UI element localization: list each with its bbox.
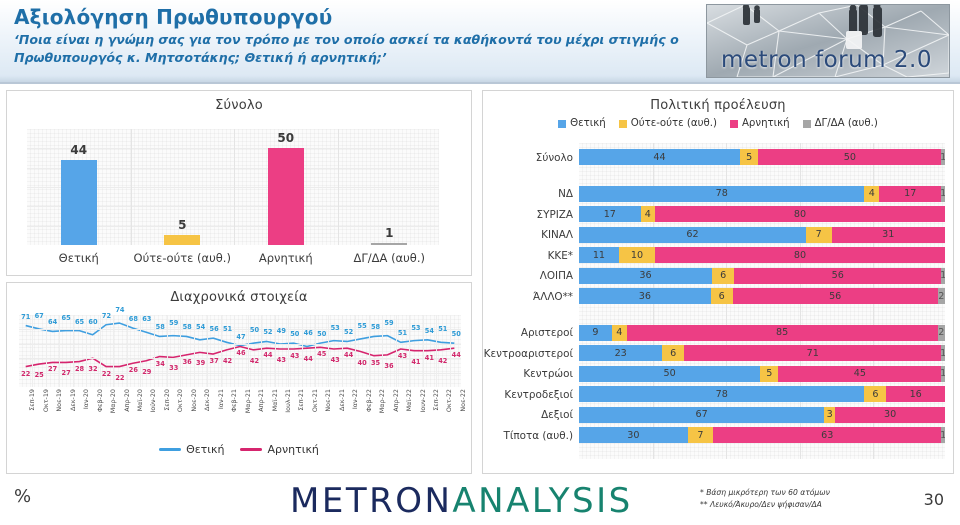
legend-swatch <box>558 120 566 128</box>
timeseries-value-label: 41 <box>425 354 434 362</box>
timeseries-x-label: Νοε-22 <box>459 389 467 412</box>
timeseries-value-label: 53 <box>411 324 420 332</box>
timeseries-x-label: Οκτ-21 <box>311 389 319 412</box>
timeseries-value-label: 43 <box>277 356 286 364</box>
timeseries-x-label: Μαρ-21 <box>244 389 252 413</box>
stacked-bar-row: 366562 <box>579 288 945 304</box>
timeseries-value-labels: 7167646565607274686358595854565147505249… <box>19 315 461 387</box>
column-category-label: Θετική <box>27 251 131 265</box>
stacked-bar-segment: 1 <box>941 345 945 361</box>
timeseries-x-label: Σεπ-20 <box>163 389 171 411</box>
timeseries-x-axis-labels: Σεπ-19Οκτ-19Νοε-19Δεκ-19Ιαν-20Φεβ-20Μαρ-… <box>19 389 461 437</box>
slide-header: Αξιολόγηση Πρωθυπουργού ‘Ποια είναι η γν… <box>0 0 960 84</box>
row-label-Δεξιοί: Δεξιοί <box>483 409 579 421</box>
timeseries-value-label: 32 <box>88 365 97 373</box>
timeseries-value-label: 60 <box>88 318 97 326</box>
stacked-bar-segment: 78 <box>579 186 864 202</box>
column-bar <box>61 160 97 245</box>
timeseries-value-label: 42 <box>438 357 447 365</box>
column-category-label: Αρνητική <box>234 251 338 265</box>
timeseries-x-label: Μαρ-20 <box>109 389 117 413</box>
timeseries-value-label: 28 <box>75 365 84 373</box>
stacked-bar-row: 236711 <box>579 345 945 361</box>
legend-item-Θετική[interactable]: Θετική <box>558 118 606 129</box>
timeseries-value-label: 50 <box>250 326 259 334</box>
column-bar <box>164 235 200 245</box>
timeseries-x-label: Οκτ-19 <box>42 389 50 412</box>
stacked-bar-segment: 5 <box>760 366 778 382</box>
political-origin-plot: 4455017841711748062731111080366561366562… <box>579 143 945 459</box>
timeseries-x-label: Μαρ-22 <box>378 389 386 413</box>
page-title: Αξιολόγηση Πρωθυπουργού <box>14 5 332 29</box>
stacked-bar-row: 307631 <box>579 427 945 443</box>
timeseries-value-label: 27 <box>48 365 57 373</box>
row-label-ΆΛΛΟ**: ΆΛΛΟ** <box>483 291 579 303</box>
timeseries-value-label: 44 <box>344 351 353 359</box>
stacked-bar-row: 366561 <box>579 268 945 284</box>
timeseries-value-label: 58 <box>156 323 165 331</box>
timeseries-x-label: Οκτ-22 <box>445 389 453 412</box>
timeseries-value-label: 44 <box>263 351 272 359</box>
stacked-bar-segment: 31 <box>832 227 945 243</box>
stacked-bar-row: 94852 <box>579 325 945 341</box>
timeseries-value-label: 65 <box>61 314 70 322</box>
timeseries-x-label: Απρ-21 <box>257 389 265 412</box>
footnote-1: * Βάση μικρότερη των 60 ατόμων <box>700 487 830 499</box>
legend-label: Αρνητική <box>742 118 790 129</box>
stacked-bar-segment: 56 <box>734 268 941 284</box>
timeseries-value-label: 65 <box>75 318 84 326</box>
stacked-bar-segment: 62 <box>579 227 806 243</box>
legend-label: ΔΓ/ΔΑ (αυθ.) <box>815 118 878 129</box>
stacked-bar-segment: 1 <box>941 427 945 443</box>
legend-label: Ούτε-ούτε (αυθ.) <box>631 118 717 129</box>
timeseries-value-label: 36 <box>384 362 393 370</box>
timeseries-x-label: Νοε-20 <box>190 389 198 412</box>
timeseries-x-label: Φεβ-20 <box>96 389 104 412</box>
legend-item-Θετική[interactable]: Θετική <box>159 443 224 456</box>
timeseries-value-label: 54 <box>196 323 205 331</box>
legend-swatch <box>619 120 627 128</box>
stacked-bar-row: 111080 <box>579 247 945 263</box>
slide-footer: % METRONANALYSIS * Βάση μικρότερη των 60… <box>0 478 960 525</box>
page-number: 30 <box>924 490 944 509</box>
legend-label: Αρνητική <box>267 443 318 456</box>
footnotes: * Βάση μικρότερη των 60 ατόμων ** Λευκό/… <box>700 487 830 511</box>
timeseries-value-label: 46 <box>236 349 245 357</box>
stacked-bar-segment: 56 <box>733 288 938 304</box>
political-origin-chart-panel: Πολιτική προέλευση ΘετικήΟύτε-ούτε (αυθ.… <box>482 90 954 474</box>
stacked-bar-segment: 85 <box>627 325 938 341</box>
timeseries-x-label: Μαϊ-21 <box>271 389 279 411</box>
stacked-bar-segment: 1 <box>941 149 945 165</box>
stacked-bar-segment: 4 <box>612 325 627 341</box>
percent-symbol: % <box>14 486 31 507</box>
stacked-bar-segment: 1 <box>941 186 945 202</box>
timeseries-value-label: 42 <box>223 357 232 365</box>
column-category-label: Ούτε-ούτε (αυθ.) <box>131 251 235 265</box>
timeseries-value-label: 51 <box>223 325 232 333</box>
timeseries-value-label: 59 <box>169 319 178 327</box>
row-label-Σύνολο: Σύνολο <box>483 152 579 164</box>
stacked-bar-row: 445501 <box>579 149 945 165</box>
stacked-bar-segment: 11 <box>579 247 619 263</box>
legend-item-Αρνητική[interactable]: Αρνητική <box>240 443 318 456</box>
timeseries-x-label: Σεπ-19 <box>28 389 36 411</box>
timeseries-value-label: 58 <box>371 323 380 331</box>
timeseries-x-label: Δεκ-20 <box>203 389 211 411</box>
timeseries-value-label: 51 <box>398 329 407 337</box>
timeseries-value-label: 43 <box>290 352 299 360</box>
timeseries-legend: ΘετικήΑρνητική <box>7 443 471 456</box>
row-label-ΚΚΕ*: ΚΚΕ* <box>483 250 579 262</box>
stacked-bar-segment: 7 <box>806 227 832 243</box>
timeseries-x-label: Ιαν-21 <box>217 389 225 409</box>
political-origin-legend: ΘετικήΟύτε-ούτε (αυθ.)ΑρνητικήΔΓ/ΔΑ (αυθ… <box>483 118 953 129</box>
page-subtitle: ‘Ποια είναι η γνώμη σας για τον τρόπο με… <box>14 31 704 68</box>
timeseries-value-label: 52 <box>344 328 353 336</box>
stacked-bar-segment: 44 <box>579 149 740 165</box>
timeseries-value-label: 43 <box>331 356 340 364</box>
stacked-bar-segment: 2 <box>938 288 945 304</box>
row-label-Κεντρώοι: Κεντρώοι <box>483 368 579 380</box>
timeseries-value-label: 45 <box>317 350 326 358</box>
column-value-label: 50 <box>277 131 294 145</box>
stacked-bar-segment: 36 <box>579 288 711 304</box>
timeseries-value-label: 37 <box>209 357 218 365</box>
timeseries-x-label: Δεκ-21 <box>338 389 346 411</box>
stacked-bar-segment: 7 <box>688 427 713 443</box>
timeseries-x-label: Ιούν-20 <box>149 389 157 413</box>
stacked-bar-segment: 67 <box>579 407 824 423</box>
timeseries-value-label: 35 <box>371 359 380 367</box>
timeseries-x-label: Ιουν-22 <box>419 389 427 413</box>
timeseries-plot: 7167646565607274686358595854565147505249… <box>19 315 461 387</box>
stacked-bar-segment: 30 <box>579 427 688 443</box>
stacked-bar-segment: 4 <box>864 186 879 202</box>
timeseries-x-label: Σεπ-22 <box>432 389 440 411</box>
timeseries-value-label: 47 <box>236 333 245 341</box>
timeseries-value-label: 36 <box>183 358 192 366</box>
column-value-label: 5 <box>178 218 186 232</box>
timeseries-value-label: 67 <box>35 312 44 320</box>
timeseries-value-label: 58 <box>183 323 192 331</box>
stacked-bar-segment: 6 <box>711 288 733 304</box>
stacked-bar-segment: 3 <box>824 407 835 423</box>
timeseries-value-label: 54 <box>425 327 434 335</box>
timeseries-value-label: 41 <box>411 358 420 366</box>
timeseries-value-label: 50 <box>290 330 299 338</box>
legend-line-swatch <box>159 448 181 451</box>
total-chart-title: Σύνολο <box>7 91 471 113</box>
timeseries-value-label: 46 <box>304 329 313 337</box>
stacked-bar-segment: 10 <box>619 247 655 263</box>
political-origin-title: Πολιτική προέλευση <box>483 91 953 113</box>
timeseries-value-label: 49 <box>277 327 286 335</box>
stacked-bar-segment: 9 <box>579 325 612 341</box>
row-label-Αριστεροί: Αριστεροί <box>483 327 579 339</box>
stacked-bar-segment: 78 <box>579 386 864 402</box>
timeseries-x-label: Σεπ-21 <box>297 389 305 411</box>
timeseries-chart-panel: Διαχρονικά στοιχεία 71676465656072746863… <box>6 282 472 474</box>
row-label-ΚΙΝΑΛ: ΚΙΝΑΛ <box>483 229 579 241</box>
stacked-bar-segment: 1 <box>941 366 945 382</box>
stacked-bar-row: 62731 <box>579 227 945 243</box>
stacked-bar-row: 505451 <box>579 366 945 382</box>
timeseries-value-label: 74 <box>115 306 124 314</box>
legend-label: Θετική <box>186 443 224 456</box>
stacked-bar-segment: 6 <box>864 386 886 402</box>
timeseries-value-label: 56 <box>209 325 218 333</box>
stacked-bar-segment: 5 <box>740 149 758 165</box>
timeseries-x-label: Μαϊ-22 <box>405 389 413 411</box>
brand-metron: METRON <box>290 481 452 521</box>
column-value-label: 1 <box>385 226 393 240</box>
row-label-Κεντροδεξιοί: Κεντροδεξιοί <box>483 389 579 401</box>
stacked-bar-segment: 45 <box>778 366 941 382</box>
stacked-bar-row: 67330 <box>579 407 945 423</box>
stacked-bar-segment: 17 <box>879 186 941 202</box>
stacked-bar-segment: 50 <box>579 366 760 382</box>
timeseries-value-label: 25 <box>35 371 44 379</box>
timeseries-x-label: Ιαν-20 <box>82 389 90 409</box>
timeseries-value-label: 22 <box>102 370 111 378</box>
timeseries-value-label: 53 <box>331 324 340 332</box>
timeseries-value-label: 27 <box>61 369 70 377</box>
stacked-bar-segment: 6 <box>712 268 734 284</box>
timeseries-value-label: 55 <box>357 322 366 330</box>
column-1: 5 <box>164 129 200 245</box>
column-bar <box>268 148 304 245</box>
timeseries-value-label: 29 <box>142 368 151 376</box>
legend-swatch <box>803 120 811 128</box>
stacked-bar-segment: 50 <box>758 149 941 165</box>
timeseries-value-label: 39 <box>196 359 205 367</box>
total-chart-plot: 445501 <box>27 129 439 245</box>
timeseries-value-label: 40 <box>357 359 366 367</box>
timeseries-value-label: 43 <box>398 352 407 360</box>
row-label-Κεντροαριστεροί: Κεντροαριστεροί <box>483 348 579 360</box>
timeseries-x-label: Μαϊ-20 <box>136 389 144 411</box>
timeseries-value-label: 42 <box>250 357 259 365</box>
stacked-bar-segment: 63 <box>713 427 941 443</box>
timeseries-value-label: 22 <box>115 374 124 382</box>
timeseries-value-label: 44 <box>304 355 313 363</box>
timeseries-x-label: Δεκ-19 <box>69 389 77 411</box>
stacked-bar-row: 17480 <box>579 206 945 222</box>
stacked-bar-row: 78616 <box>579 386 945 402</box>
timeseries-value-label: 50 <box>452 330 461 338</box>
timeseries-value-label: 34 <box>156 360 165 368</box>
timeseries-x-label: Απρ-20 <box>123 389 131 412</box>
timeseries-value-label: 59 <box>384 319 393 327</box>
legend-item-Αρνητική[interactable]: Αρνητική <box>730 118 790 129</box>
row-label-ΣΥΡΙΖΑ: ΣΥΡΙΖΑ <box>483 209 579 221</box>
timeseries-value-label: 44 <box>452 351 461 359</box>
slide: Αξιολόγηση Πρωθυπουργού ‘Ποια είναι η γν… <box>0 0 960 525</box>
brand-analysis: ANALYSIS <box>452 481 632 521</box>
timeseries-value-label: 22 <box>21 370 30 378</box>
stacked-bar-segment: 71 <box>684 345 941 361</box>
legend-label: Θετική <box>570 118 606 129</box>
stacked-bar-row: 784171 <box>579 186 945 202</box>
column-3: 1 <box>371 129 407 245</box>
metron-analysis-brand: METRONANALYSIS <box>290 481 633 521</box>
timeseries-x-label: Νοε-21 <box>324 389 332 412</box>
timeseries-x-label: Φεβ-21 <box>230 389 238 412</box>
column-category-label: ΔΓ/ΔΑ (αυθ.) <box>338 251 442 265</box>
column-0: 44 <box>61 129 97 245</box>
total-chart-bars: 445501 <box>27 129 439 245</box>
stacked-bar-segment: 2 <box>938 325 945 341</box>
stacked-bar-segment: 80 <box>655 247 945 263</box>
legend-line-swatch <box>240 448 262 451</box>
column-bar <box>371 243 407 245</box>
legend-item-ΔΓ/ΔΑ (αυθ.)[interactable]: ΔΓ/ΔΑ (αυθ.) <box>803 118 878 129</box>
timeseries-x-label: Ιαν-22 <box>351 389 359 409</box>
stacked-bar-segment: 23 <box>579 345 662 361</box>
stacked-bar-segment: 1 <box>941 268 945 284</box>
timeseries-x-label: Νοε-19 <box>55 389 63 412</box>
timeseries-value-label: 26 <box>129 366 138 374</box>
stacked-bar-segment: 36 <box>579 268 712 284</box>
column-value-label: 44 <box>70 143 87 157</box>
logo-text: metron forum 2.0 <box>721 47 932 73</box>
stacked-bar-segment: 17 <box>579 206 641 222</box>
timeseries-x-label: Οκτ-20 <box>176 389 184 412</box>
legend-swatch <box>730 120 738 128</box>
timeseries-value-label: 64 <box>48 318 57 326</box>
legend-item-Ούτε-ούτε (αυθ.)[interactable]: Ούτε-ούτε (αυθ.) <box>619 118 717 129</box>
metron-forum-logo: metron forum 2.0 <box>706 4 950 78</box>
total-column-chart-panel: Σύνολο 445501 ΘετικήΟύτε-ούτε (αυθ.)Αρνη… <box>6 90 472 276</box>
timeseries-x-label: Φεβ-22 <box>365 389 373 412</box>
row-label-ΛΟΙΠΑ: ΛΟΙΠΑ <box>483 270 579 282</box>
row-label-ΝΔ: ΝΔ <box>483 188 579 200</box>
timeseries-value-label: 68 <box>129 315 138 323</box>
row-label-Τίποτα (αυθ.): Τίποτα (αυθ.) <box>483 430 579 442</box>
timeseries-value-label: 72 <box>102 312 111 320</box>
stacked-bar-segment: 6 <box>662 345 684 361</box>
timeseries-value-label: 52 <box>263 328 272 336</box>
timeseries-value-label: 63 <box>142 315 151 323</box>
stacked-bar-segment: 30 <box>835 407 945 423</box>
timeseries-x-label: Απρ-22 <box>392 389 400 412</box>
timeseries-value-label: 51 <box>438 325 447 333</box>
timeseries-x-label: Ιουλ-21 <box>284 389 292 413</box>
stacked-bar-segment: 16 <box>886 386 945 402</box>
timeseries-value-label: 33 <box>169 364 178 372</box>
timeseries-value-label: 71 <box>21 313 30 321</box>
column-2: 50 <box>268 129 304 245</box>
timeseries-value-label: 50 <box>317 330 326 338</box>
timeseries-chart-title: Διαχρονικά στοιχεία <box>7 283 471 305</box>
footnote-2: ** Λευκό/Άκυρο/Δεν ψήφισαν/ΔΑ <box>700 499 830 511</box>
stacked-bar-segment: 80 <box>655 206 945 222</box>
stacked-bar-segment: 4 <box>641 206 655 222</box>
